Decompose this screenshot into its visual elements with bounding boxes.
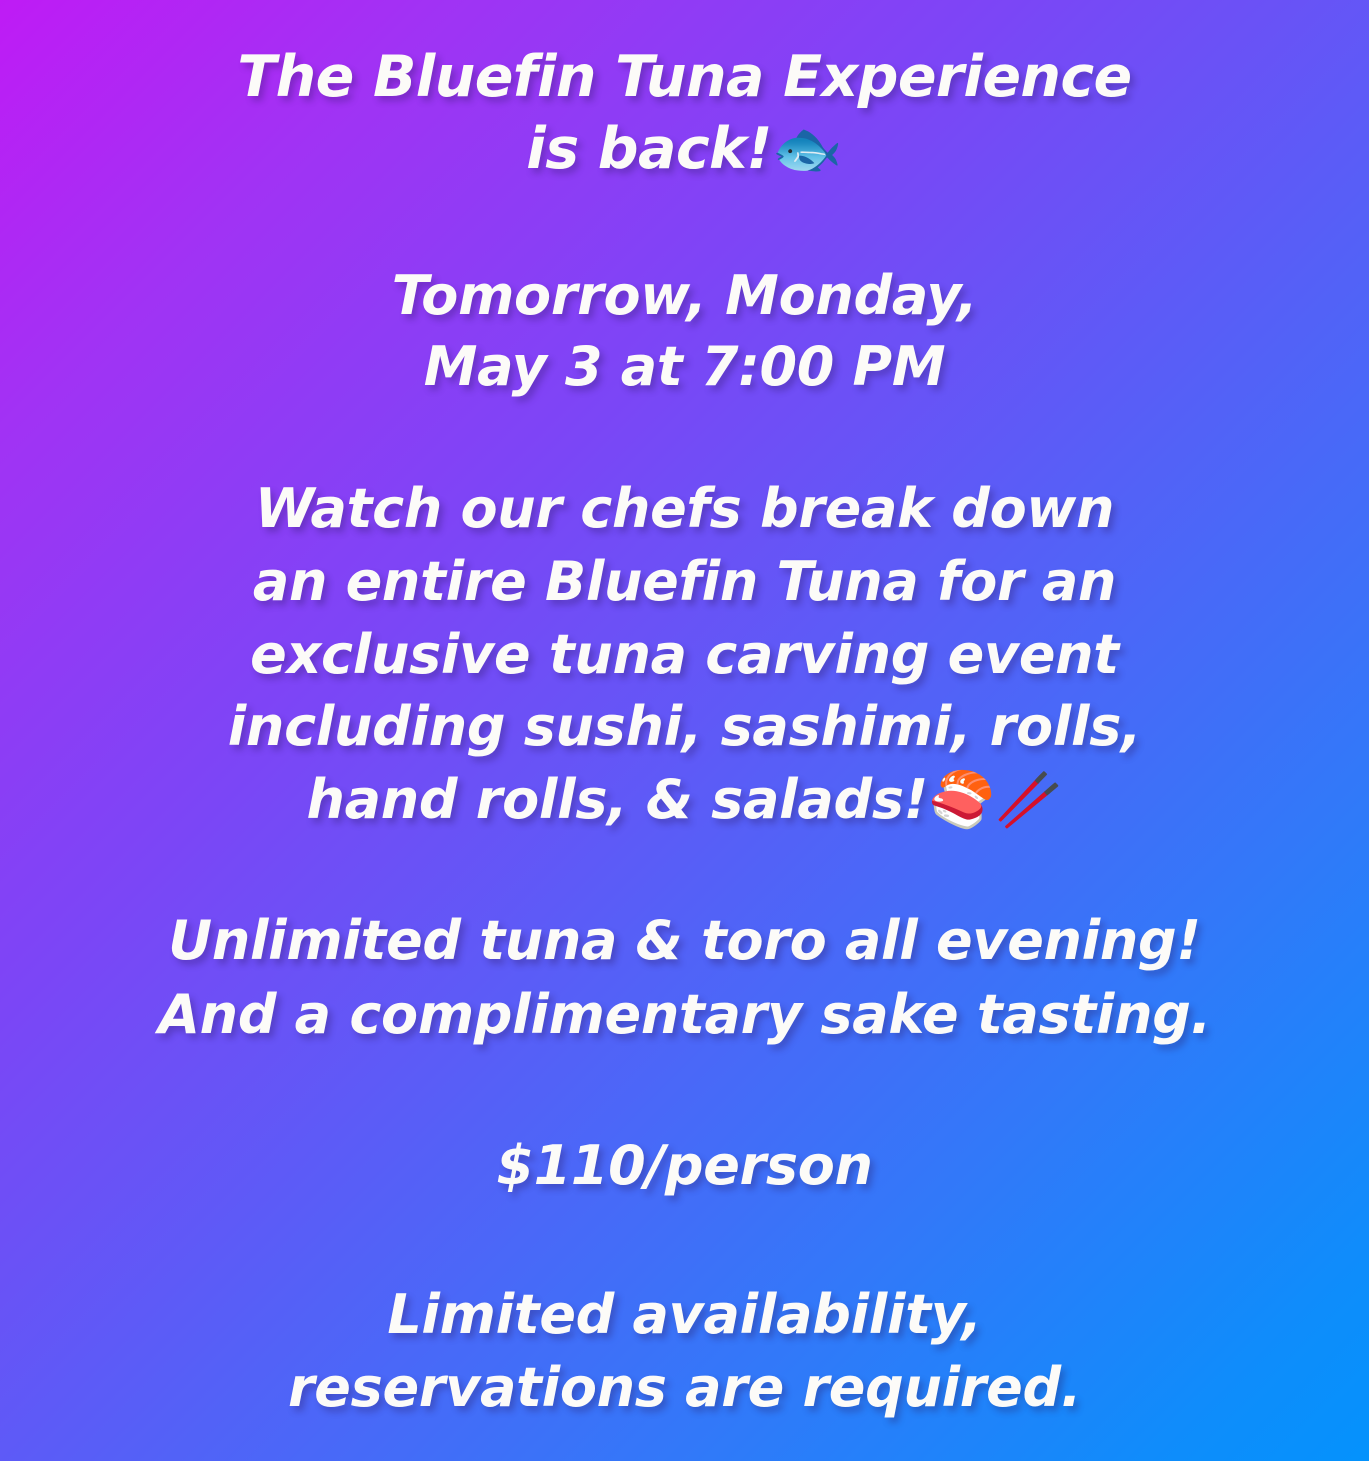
headline-line-2-text: is back!	[526, 116, 771, 182]
description-line-3: exclusive tuna carving event	[0, 619, 1369, 692]
flyer-content-stack: The Bluefin Tuna Experience is back!🐟 To…	[0, 42, 1369, 1425]
headline-block: The Bluefin Tuna Experience is back!🐟	[0, 42, 1369, 186]
description-line-5-text: hand rolls, & salads!	[306, 768, 928, 831]
event-date-line-1: Tomorrow, Monday,	[0, 260, 1369, 332]
offer-line-2: And a complimentary sake tasting.	[0, 978, 1369, 1051]
event-date-block: Tomorrow, Monday, May 3 at 7:00 PM	[0, 260, 1369, 404]
availability-block: Limited availability, reservations are r…	[0, 1279, 1369, 1425]
price-line-1: $110/person	[0, 1131, 1369, 1201]
price-block: $110/person	[0, 1131, 1369, 1201]
headline-line-2: is back!🐟	[0, 114, 1369, 186]
offer-line-1: Unlimited tuna & toro all evening!	[0, 904, 1369, 977]
availability-line-1: Limited availability,	[0, 1279, 1369, 1352]
description-line-2: an entire Bluefin Tuna for an	[0, 546, 1369, 619]
headline-line-1: The Bluefin Tuna Experience	[0, 42, 1369, 114]
description-line-5: hand rolls, & salads!🍣🥢	[0, 764, 1369, 837]
promotional-flyer: The Bluefin Tuna Experience is back!🐟 To…	[0, 0, 1369, 1461]
fish-emoji: 🐟	[772, 116, 843, 182]
description-line-4: including sushi, sashimi, rolls,	[0, 691, 1369, 764]
sushi-and-chopsticks-emoji: 🍣🥢	[928, 768, 1062, 831]
offer-block: Unlimited tuna & toro all evening! And a…	[0, 904, 1369, 1051]
event-description-block: Watch our chefs break down an entire Blu…	[0, 473, 1369, 836]
description-line-1: Watch our chefs break down	[0, 473, 1369, 546]
event-date-line-2: May 3 at 7:00 PM	[0, 331, 1369, 403]
availability-line-2: reservations are required.	[0, 1352, 1369, 1425]
